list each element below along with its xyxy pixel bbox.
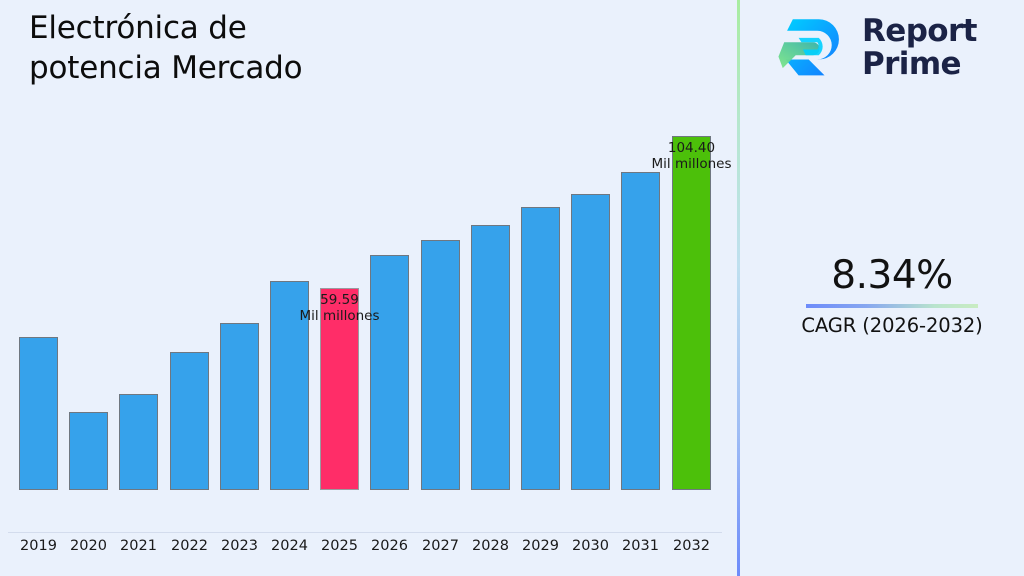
x-tick-2025: 2025 [311,538,368,554]
cagr-divider-rule [806,304,978,308]
x-tick-2031: 2031 [612,538,669,554]
cagr-value: 8.34% [760,255,1024,297]
bar-2026 [370,255,409,490]
bar-chart: 59.59 Mil millones104.40 Mil millones 20… [0,0,737,576]
bar-2031 [621,172,660,490]
bar-2027 [421,240,460,490]
x-tick-2022: 2022 [161,538,218,554]
x-tick-2021: 2021 [110,538,167,554]
brand-logo[interactable]: Report Prime [776,11,1004,85]
bar-2020 [69,412,108,490]
x-tick-2020: 2020 [60,538,117,554]
brand-name: Report Prime [862,15,977,82]
bar-2021 [119,394,158,490]
bar-2032 [672,136,711,490]
report-prime-logo-icon [776,12,850,84]
x-tick-2030: 2030 [562,538,619,554]
x-axis-line [8,532,722,533]
x-tick-2032: 2032 [663,538,720,554]
bar-2028 [471,225,510,490]
cagr-label: CAGR (2026-2032) [760,314,1024,337]
chart-infographic: Electrónica de potencia Mercado 59.59 Mi… [0,0,1024,576]
bar-2024 [270,281,309,490]
bar-2023 [220,323,259,490]
bar-2025 [320,288,359,490]
section-divider [737,0,740,576]
x-tick-2023: 2023 [211,538,268,554]
plot-area: 59.59 Mil millones104.40 Mil millones [0,0,737,533]
x-tick-2029: 2029 [512,538,569,554]
x-tick-2024: 2024 [261,538,318,554]
bar-2029 [521,207,560,490]
x-tick-2026: 2026 [361,538,418,554]
cagr-block: 8.34% CAGR (2026-2032) [760,255,1024,337]
x-tick-2027: 2027 [412,538,469,554]
x-tick-2019: 2019 [10,538,67,554]
bar-2022 [170,352,209,490]
x-tick-2028: 2028 [462,538,519,554]
bar-2030 [571,194,610,490]
bar-2019 [19,337,58,490]
